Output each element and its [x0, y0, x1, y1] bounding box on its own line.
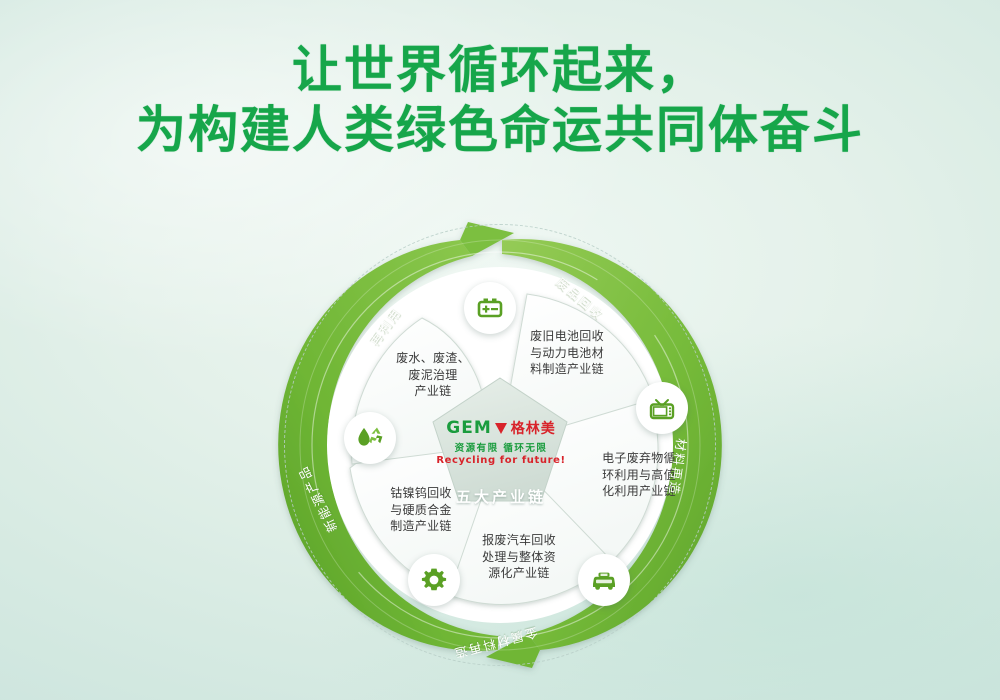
- gear-icon-bubble[interactable]: [408, 554, 460, 606]
- logo-triangle-icon: [495, 423, 507, 434]
- logo-english-slogan: Recycling for future!: [426, 455, 576, 466]
- segment-text-vehicle: 报废汽车回收 处理与整体资 源化产业链: [464, 532, 574, 582]
- television-icon-bubble[interactable]: [636, 382, 688, 434]
- title-line-1: 让世界循环起来，: [0, 40, 1000, 100]
- water-recycle-icon-bubble[interactable]: [344, 412, 396, 464]
- segment-text-wastewater: 废水、废渣、 废泥治理 产业链: [378, 350, 488, 400]
- segment-text-battery: 废旧电池回收 与动力电池材 料制造产业链: [512, 328, 622, 378]
- battery-icon: [476, 294, 504, 322]
- water-recycle-icon: [355, 424, 385, 452]
- title-line-2: 为构建人类绿色命运共同体奋斗: [0, 100, 1000, 160]
- logo-wordmark: GEM: [446, 418, 491, 438]
- battery-icon-bubble[interactable]: [464, 282, 516, 334]
- circular-economy-diagram: 废旧电池回收 与动力电池材 料制造产业链 电子废弃物循 环利用与高值 化利用产业…: [240, 210, 760, 680]
- car-icon: [590, 566, 618, 594]
- car-icon-bubble[interactable]: [578, 554, 630, 606]
- gem-logo: GEM 格林美 资源有限 循环无限 Recycling for future!: [426, 418, 576, 466]
- television-icon: [648, 394, 676, 422]
- center-subtitle: 五大产业链: [426, 486, 576, 507]
- page-title: 让世界循环起来， 为构建人类绿色命运共同体奋斗: [0, 40, 1000, 160]
- gear-icon: [420, 566, 448, 594]
- logo-chinese-name: 格林美: [511, 418, 556, 438]
- logo-slogan: 资源有限 循环无限: [426, 440, 576, 454]
- logo-primary-row: GEM 格林美: [426, 418, 576, 438]
